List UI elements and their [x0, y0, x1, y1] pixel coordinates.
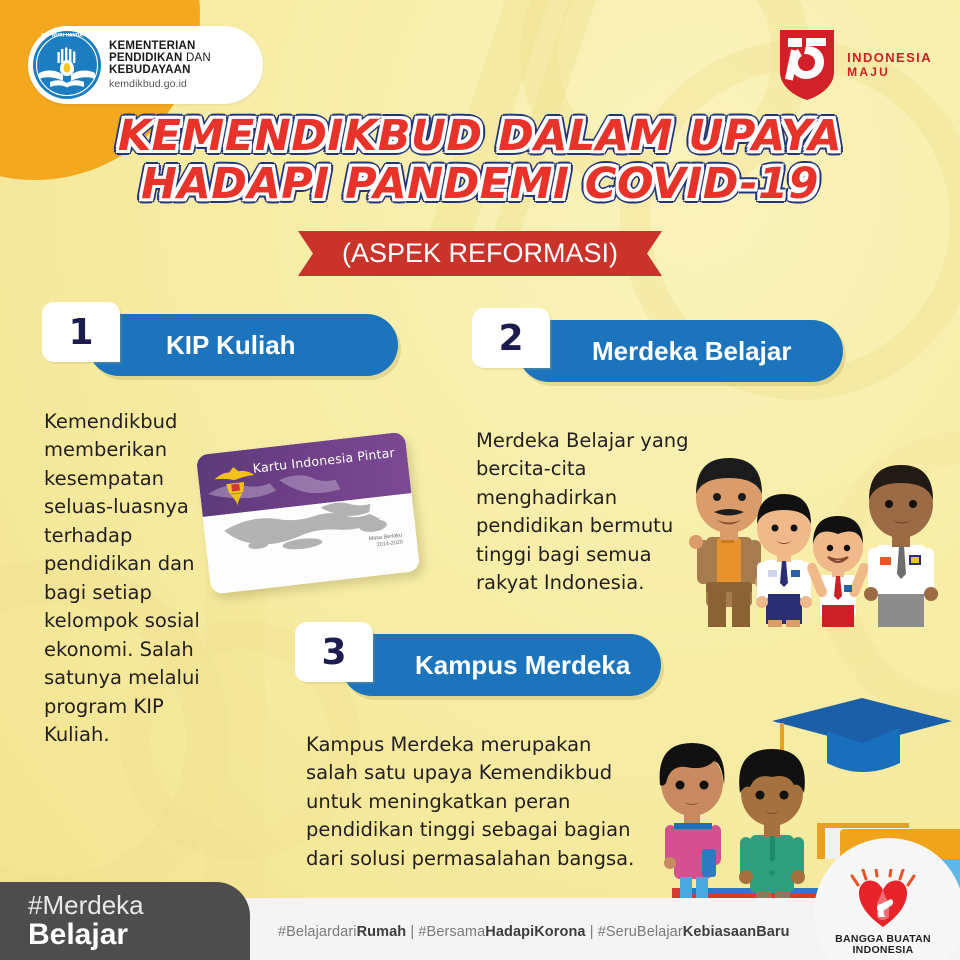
bbi-line-2: INDONESIA: [835, 945, 931, 956]
hashtag-2-light: #Bersama: [418, 924, 485, 940]
headline-line-1: KEMENDIKBUD DALAM UPAYA: [0, 112, 960, 160]
hashtag-3-light: #SeruBelajar: [598, 924, 683, 940]
ministry-line-1: KEMENTERIAN: [109, 40, 211, 52]
section-body-3: Kampus Merdeka merupakan salah satu upay…: [306, 731, 636, 873]
ministry-line-2-light: DAN: [186, 52, 211, 64]
section-title-1: KIP Kuliah: [166, 330, 296, 361]
headline-subtitle-ribbon: (ASPEK REFORMASI): [298, 231, 662, 276]
merdeka-belajar-line-1: #Merdeka: [28, 892, 250, 918]
section-header-2: Merdeka Belajar 2: [472, 308, 802, 398]
section-pill-2: Merdeka Belajar: [518, 320, 843, 382]
indonesia-maju-line-2: MAJU: [847, 66, 932, 80]
bangga-buatan-indonesia-logo: BANGGA BUATAN INDONESIA: [824, 852, 942, 956]
male-graduate-figure: [739, 749, 805, 903]
section-title-2: Merdeka Belajar: [592, 336, 791, 367]
tut-wuri-handayani-logo-icon: TUT WURI HANDAYANI: [31, 29, 103, 101]
ministry-line-2-bold: PENDIDIKAN: [109, 52, 183, 64]
section-number-badge-1: 1: [42, 302, 120, 362]
bbi-heart-hand-icon: [847, 869, 919, 933]
section-pill-3: Kampus Merdeka: [341, 634, 661, 696]
section-pill-1: KIP Kuliah: [88, 314, 398, 376]
kip-card-illustration: Kartu Indonesia Pintar Masa Berlaku 2014…: [196, 432, 420, 595]
ministry-line-2: PENDIDIKAN DAN: [109, 52, 211, 64]
ministry-name-block: KEMENTERIAN PENDIDIKAN DAN KEBUDAYAAN ke…: [109, 40, 211, 91]
logo-motto-text: TUT WURI HANDAYANI: [41, 33, 94, 38]
section-number-1: 1: [68, 312, 93, 353]
hashtag-2: #BersamaHadapiKorona: [418, 924, 585, 940]
hashtag-2-bold: HadapiKorona: [485, 924, 585, 940]
section-number-badge-3: 3: [295, 622, 373, 682]
students-group-illustration: [672, 442, 960, 627]
merdeka-belajar-line-2: Belajar: [28, 919, 250, 951]
hashtag-1-light: #Belajardari: [278, 924, 357, 940]
hashtag-3-bold: KebiasaanBaru: [683, 924, 790, 940]
bbi-text-block: BANGGA BUATAN INDONESIA: [835, 934, 931, 956]
section-number-badge-2: 2: [472, 308, 550, 368]
hashtag-3: #SeruBelajarKebiasaanBaru: [598, 924, 790, 940]
indonesia-maju-shield-icon: [776, 28, 838, 102]
poster-headline: KEMENDIKBUD DALAM UPAYA HADAPI PANDEMI C…: [0, 112, 960, 208]
hashtag-1-bold: Rumah: [357, 924, 407, 940]
section-body-2: Merdeka Belajar yang bercita-cita mengha…: [476, 427, 691, 598]
hashtag-1: #BelajardariRumah: [278, 924, 406, 940]
footer-hashtags: #BelajardariRumah | #BersamaHadapiKorona…: [278, 924, 790, 940]
indonesia-maju-line-1: INDONESIA: [847, 51, 932, 66]
hashtag-separator-1: |: [410, 924, 414, 940]
section-header-3: Kampus Merdeka 3: [295, 622, 625, 712]
headline-line-2: HADAPI PANDEMI COVID-19: [0, 160, 960, 208]
sma-student-figure: [864, 465, 938, 627]
kemdikbud-logo-lockup: TUT WURI HANDAYANI KEMENTERIAN PENDIDIKA…: [28, 26, 263, 104]
hashtag-separator-2: |: [590, 924, 594, 940]
indonesia-maju-text: INDONESIA MAJU: [847, 51, 932, 80]
merdeka-belajar-brand-block: #Merdeka Belajar: [0, 882, 250, 960]
female-graduate-figure: [660, 743, 725, 903]
poster-canvas: TUT WURI HANDAYANI KEMENTERIAN PENDIDIKA…: [0, 0, 960, 960]
section-title-3: Kampus Merdeka: [415, 650, 630, 681]
indonesia-maju-logo: INDONESIA MAJU: [776, 28, 932, 102]
smp-student-figure: [756, 494, 812, 627]
ministry-website: kemdikbud.go.id: [109, 79, 211, 90]
ministry-line-3: KEBUDAYAAN: [109, 64, 211, 76]
section-number-2: 2: [498, 318, 523, 359]
sd-student-figure: [806, 516, 871, 627]
section-header-1: KIP Kuliah 1: [42, 302, 362, 392]
garuda-emblem-icon: [213, 465, 257, 508]
section-number-3: 3: [321, 632, 346, 673]
